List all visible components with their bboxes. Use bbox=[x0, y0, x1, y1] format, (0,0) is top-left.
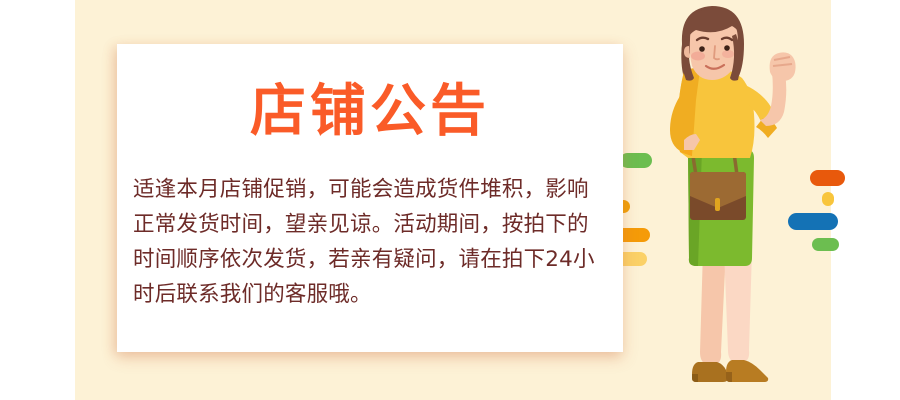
announcement-banner: 店铺公告 适逢本月店铺促销，可能会造成货件堆积，影响正常发货时间，望亲见谅。活动… bbox=[0, 0, 900, 400]
announcement-card: 店铺公告 适逢本月店铺促销，可能会造成货件堆积，影响正常发货时间，望亲见谅。活动… bbox=[117, 44, 623, 352]
woman-illustration bbox=[640, 0, 840, 400]
announcement-body-text: 适逢本月店铺促销，可能会造成货件堆积，影响正常发货时间，望亲见谅。活动期间，按拍… bbox=[133, 172, 607, 312]
page-title: 店铺公告 bbox=[117, 84, 623, 140]
